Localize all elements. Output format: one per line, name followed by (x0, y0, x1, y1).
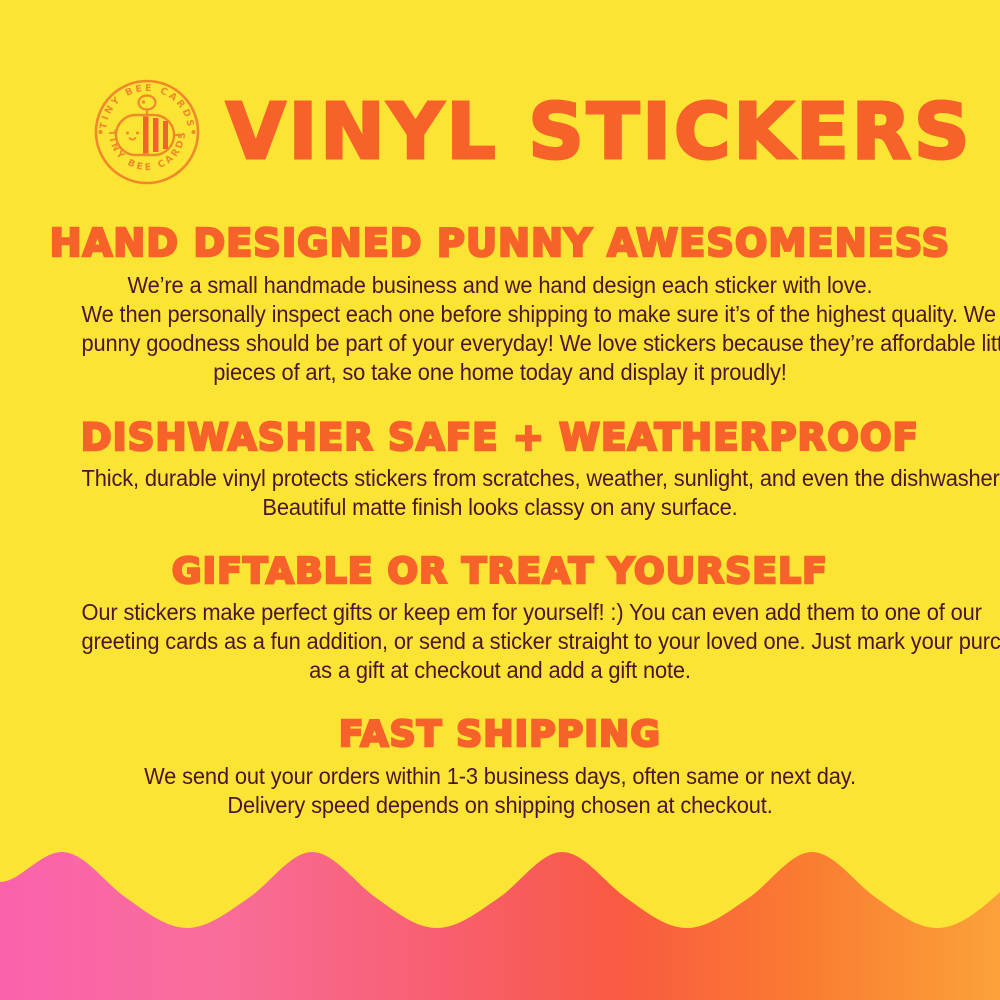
section-body: We send out your orders within 1-3 busin… (82, 762, 919, 820)
header: TINY BEE CARDS TINY BEE CARDS VINYL STIC… (0, 72, 1000, 192)
body-line: We then personally inspect each one befo… (82, 300, 919, 329)
section-heading: GIFTABLE OR TREAT YOURSELF (0, 552, 1000, 592)
body-line: Our stickers make perfect gifts or keep … (82, 598, 919, 627)
section-heading: FAST SHIPPING (0, 715, 1000, 755)
section-heading: HAND DESIGNED PUNNY AWESOMENESS (0, 222, 1000, 265)
section-dishwasher-safe: DISHWASHER SAFE + WEATHERPROOF Thick, du… (0, 417, 1000, 522)
body-line: punny goodness should be part of your ev… (82, 329, 919, 358)
section-hand-designed: HAND DESIGNED PUNNY AWESOMENESS We’re a … (0, 222, 1000, 387)
body-line: Thick, durable vinyl protects stickers f… (82, 464, 919, 493)
body-line: Delivery speed depends on shipping chose… (82, 791, 919, 820)
body-line: pieces of art, so take one home today an… (82, 358, 919, 387)
body-line: greeting cards as a fun addition, or sen… (82, 627, 919, 656)
page-title: VINYL STICKERS (226, 94, 972, 171)
section-body: Our stickers make perfect gifts or keep … (82, 598, 919, 685)
section-giftable: GIFTABLE OR TREAT YOURSELF Our stickers … (0, 552, 1000, 685)
wavy-gradient-band (0, 840, 1000, 1000)
body-line: We send out your orders within 1-3 busin… (82, 762, 919, 791)
tiny-bee-cards-logo-icon: TINY BEE CARDS TINY BEE CARDS (92, 77, 202, 187)
body-line: We’re a small handmade business and we h… (82, 271, 919, 300)
section-heading: DISHWASHER SAFE + WEATHERPROOF (0, 417, 1000, 458)
body-line: as a gift at checkout and add a gift not… (82, 656, 919, 685)
section-fast-shipping: FAST SHIPPING We send out your orders wi… (0, 715, 1000, 819)
section-body: Thick, durable vinyl protects stickers f… (82, 464, 919, 522)
sections-container: HAND DESIGNED PUNNY AWESOMENESS We’re a … (0, 222, 1000, 820)
poster-root: TINY BEE CARDS TINY BEE CARDS VINYL STIC… (0, 0, 1000, 1000)
body-line: Beautiful matte finish looks classy on a… (82, 493, 919, 522)
section-body: We’re a small handmade business and we h… (82, 271, 919, 387)
